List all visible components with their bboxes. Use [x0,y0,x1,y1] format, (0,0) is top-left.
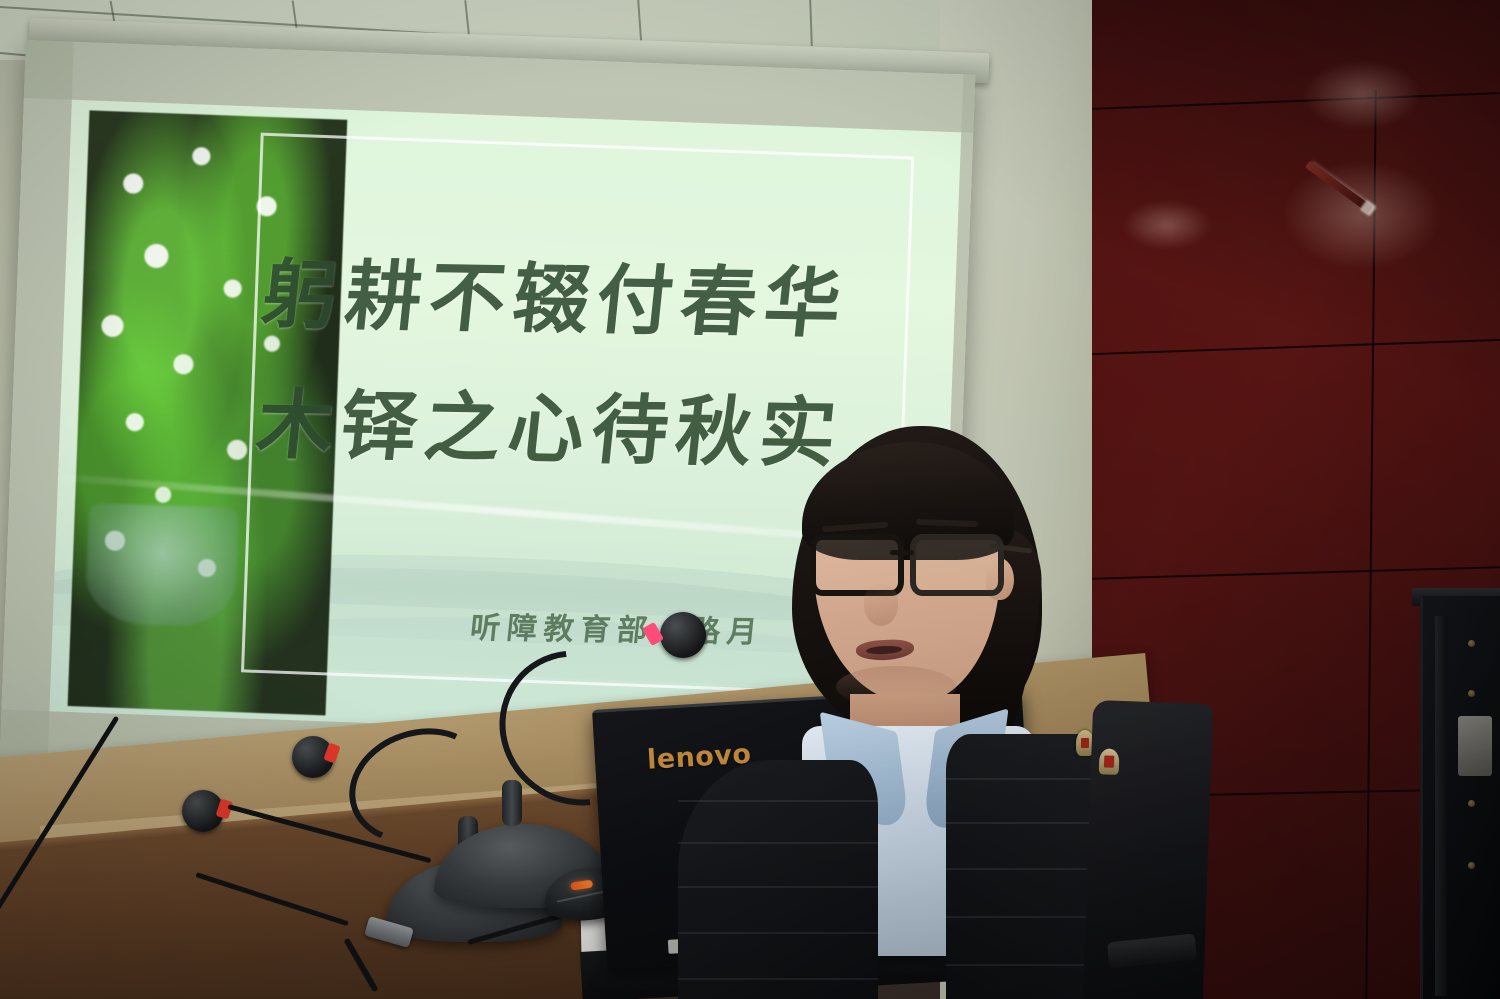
mic-collar [502,780,522,826]
mic-head-icon [660,612,706,658]
rack-panel [1458,716,1492,776]
chair-brand-patch [1099,748,1120,775]
slide-subtitle: 听障教育部 路月 [468,603,766,651]
mouse-scroll-wheel[interactable] [570,880,593,891]
photo-scene: 躬耕不辍付春华 木铎之心待秋实 听障教育部 路月 [0,0,1500,999]
eyeglasses [806,534,1012,590]
nose [864,584,898,626]
equipment-rack [1420,596,1500,999]
mouth-inner [866,645,902,655]
glasses-bridge [890,550,914,555]
slide-title-line-1: 躬耕不辍付春华 [257,233,855,352]
puffer-jacket-left [678,760,878,999]
lens-right [910,534,1004,596]
